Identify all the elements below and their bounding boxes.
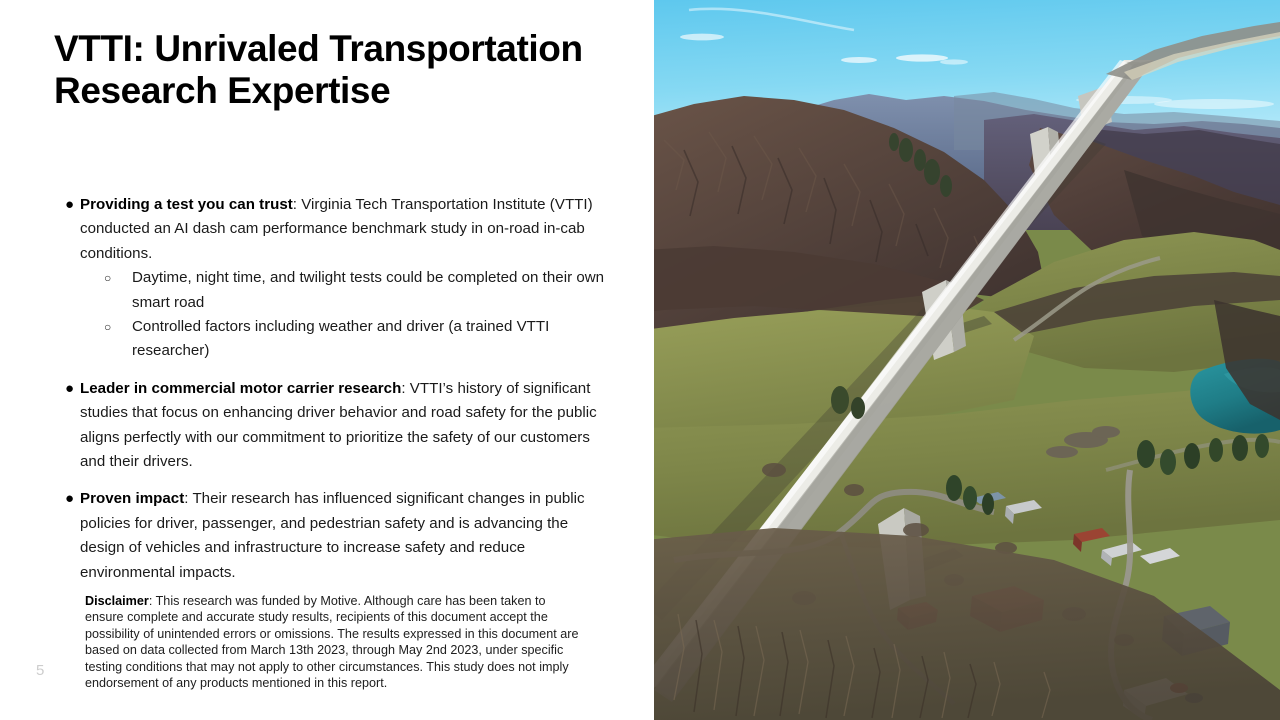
disclaimer-separator: : xyxy=(149,594,156,608)
bullet-list: ● Providing a test you can trust: Virgin… xyxy=(54,193,614,585)
bullet-circle-icon: ○ xyxy=(104,315,132,339)
bullet-text: Proven impact: Their research has influe… xyxy=(80,487,614,585)
bullet-item: ● Proven impact: Their research has infl… xyxy=(54,487,614,585)
bullet-separator: : xyxy=(293,196,301,213)
foreground-brush xyxy=(654,528,1280,720)
bullet-text: Providing a test you can trust: Virginia… xyxy=(80,193,614,266)
sub-bullet-item: ○ Daytime, night time, and twilight test… xyxy=(54,266,614,315)
page-number: 5 xyxy=(36,662,45,679)
disclaimer-text: Disclaimer: This research was funded by … xyxy=(85,593,580,691)
sub-bullet-text: Controlled factors including weather and… xyxy=(132,315,614,364)
bullet-item: ● Providing a test you can trust: Virgin… xyxy=(54,193,614,266)
presentation-slide: 5 VTTI: Unrivaled Transportation Researc… xyxy=(0,0,1280,720)
white-trailer-2 xyxy=(1140,548,1180,564)
bullet-block-2: ● Leader in commercial motor carrier res… xyxy=(54,377,614,475)
bullet-separator: : xyxy=(401,380,409,397)
trailer-rv xyxy=(1101,542,1142,566)
sub-bullet-list-1: ○ Daytime, night time, and twilight test… xyxy=(54,266,614,364)
bullet-block-1: ● Providing a test you can trust: Virgin… xyxy=(54,193,614,364)
aerial-bridge-illustration xyxy=(654,0,1280,720)
bullet-disc-icon: ● xyxy=(54,377,80,401)
bullet-disc-icon: ● xyxy=(54,193,80,217)
bullet-item: ● Leader in commercial motor carrier res… xyxy=(54,377,614,475)
disclaimer-body: This research was funded by Motive. Alth… xyxy=(85,594,578,690)
bullet-lead: Proven impact xyxy=(80,490,184,507)
sub-bullet-text: Daytime, night time, and twilight tests … xyxy=(132,266,614,315)
bullet-circle-icon: ○ xyxy=(104,266,132,290)
slide-text-pane: 5 VTTI: Unrivaled Transportation Researc… xyxy=(0,0,654,720)
sub-bullet-item: ○ Controlled factors including weather a… xyxy=(54,315,614,364)
disclaimer-label: Disclaimer xyxy=(85,594,149,608)
page-title: VTTI: Unrivaled Transportation Research … xyxy=(54,28,614,112)
bullet-block-3: ● Proven impact: Their research has infl… xyxy=(54,487,614,585)
bullet-lead: Providing a test you can trust xyxy=(80,196,293,213)
slide-photo-aerial-bridge xyxy=(654,0,1280,720)
bullet-disc-icon: ● xyxy=(54,487,80,511)
bullet-lead: Leader in commercial motor carrier resea… xyxy=(80,380,401,397)
bullet-text: Leader in commercial motor carrier resea… xyxy=(80,377,614,475)
